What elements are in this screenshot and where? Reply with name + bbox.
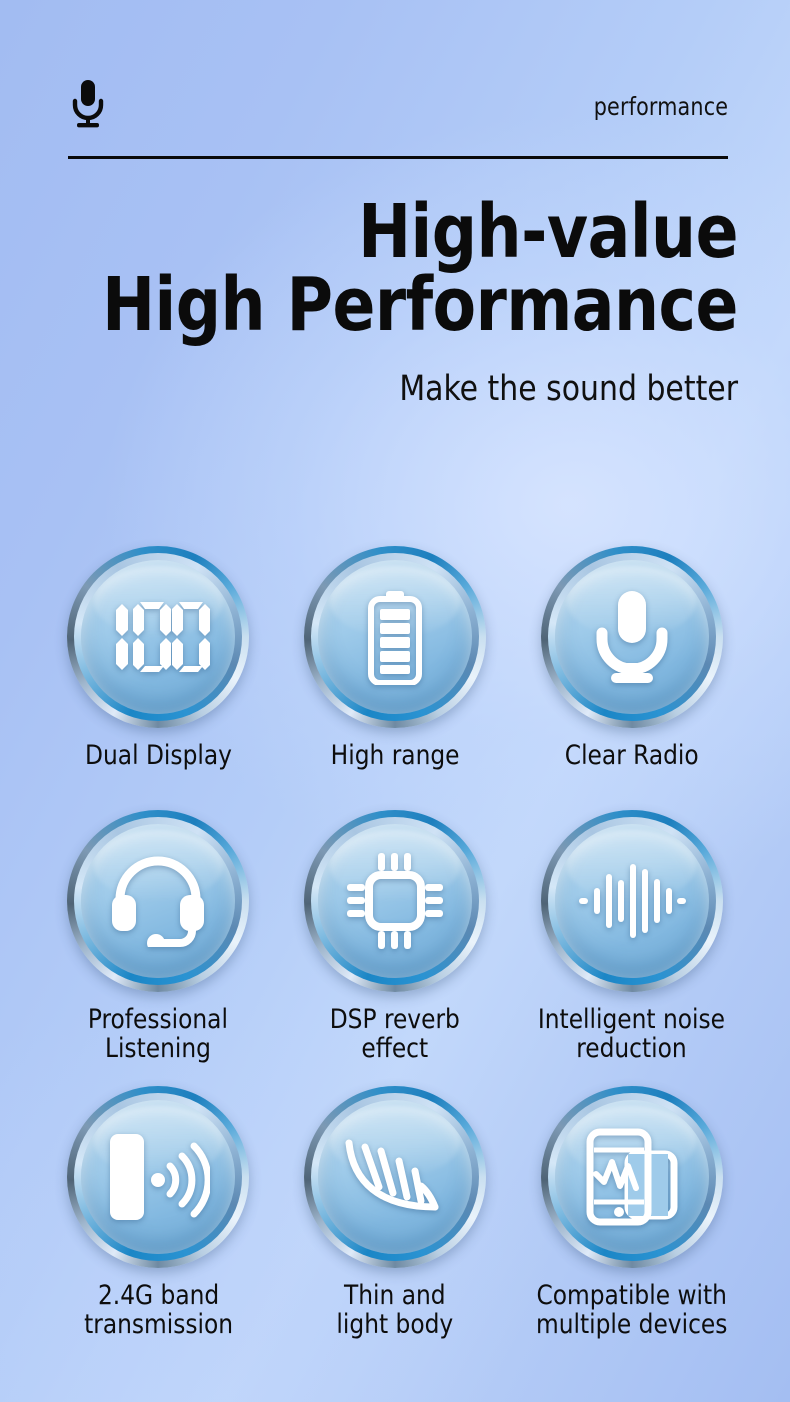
feature-label: Dual Display xyxy=(85,742,232,771)
feature-item[interactable]: 2.4G band transmission xyxy=(40,1086,277,1348)
headset-icon xyxy=(67,810,249,992)
feature-label: DSP reverb effect xyxy=(330,1006,460,1064)
page-title: High-value High Performance xyxy=(75,196,738,343)
feature-label: High range xyxy=(331,742,460,771)
feature-item[interactable]: Professional Listening xyxy=(40,810,277,1078)
feature-item[interactable]: Dual Display xyxy=(40,546,277,802)
page-header: performance xyxy=(68,78,728,160)
feature-label: Intelligent noise reduction xyxy=(538,1006,725,1064)
feature-item[interactable]: High range xyxy=(277,546,514,802)
feature-item[interactable]: DSP reverb effect xyxy=(277,810,514,1078)
seven-segment-100-icon xyxy=(67,546,249,728)
feature-item[interactable]: Clear Radio xyxy=(513,546,750,802)
microphone-icon xyxy=(68,78,108,130)
feature-label: Clear Radio xyxy=(565,742,699,771)
microphone-icon xyxy=(541,546,723,728)
feature-label: 2.4G band transmission xyxy=(84,1282,233,1340)
feature-label: Compatible with multiple devices xyxy=(536,1282,727,1340)
title-line-2: High Performance xyxy=(75,269,738,342)
multi-device-icon xyxy=(541,1086,723,1268)
audio-waveform-icon xyxy=(541,810,723,992)
feature-item[interactable]: Compatible with multiple devices xyxy=(513,1086,750,1348)
feature-item[interactable]: Intelligent noise reduction xyxy=(513,810,750,1078)
feature-orb xyxy=(67,1086,249,1268)
feature-orb xyxy=(304,810,486,992)
feature-orb xyxy=(67,810,249,992)
feature-item[interactable]: Thin and light body xyxy=(277,1086,514,1348)
feature-orb xyxy=(541,546,723,728)
feature-orb xyxy=(541,810,723,992)
cpu-chip-icon xyxy=(304,810,486,992)
feature-label: Professional Listening xyxy=(88,1006,228,1064)
feature-orb xyxy=(304,1086,486,1268)
page-subtitle: Make the sound better xyxy=(75,369,738,409)
hero-section: High-value High Performance Make the sou… xyxy=(40,196,738,409)
header-label: performance xyxy=(593,92,728,121)
wireless-signal-icon xyxy=(67,1086,249,1268)
feather-icon xyxy=(304,1086,486,1268)
feature-grid: Dual Display xyxy=(40,546,750,1348)
battery-full-icon xyxy=(304,546,486,728)
header-divider xyxy=(68,156,728,159)
feature-label: Thin and light body xyxy=(337,1282,454,1340)
feature-orb xyxy=(541,1086,723,1268)
feature-orb xyxy=(304,546,486,728)
promo-page: performance High-value High Performance … xyxy=(0,0,790,1402)
feature-orb xyxy=(67,546,249,728)
